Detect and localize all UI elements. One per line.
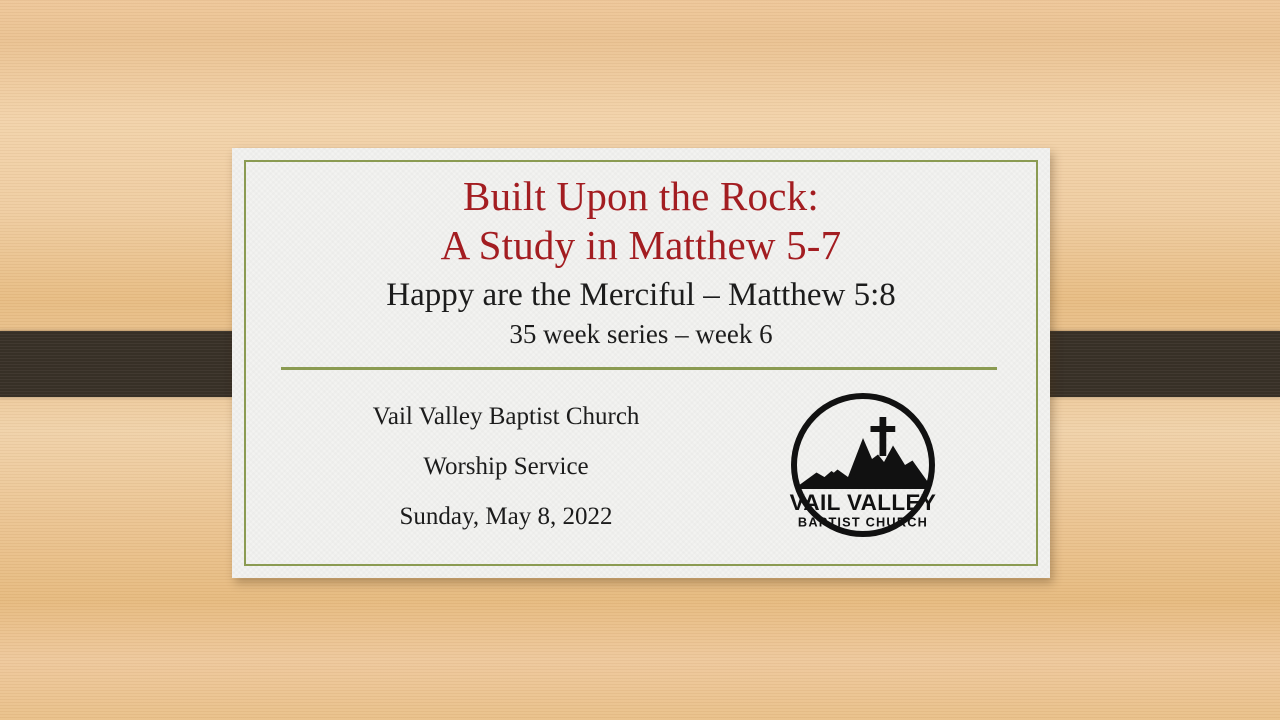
title-line-2: A Study in Matthew 5-7: [272, 221, 1010, 270]
church-logo-wrap: VAIL VALLEY BAPTIST CHURCH: [788, 386, 948, 540]
slide-title: Built Upon the Rock: A Study in Matthew …: [272, 172, 1010, 270]
subtitle-primary: Happy are the Merciful – Matthew 5:8: [272, 274, 1010, 316]
slide-subtitle: Happy are the Merciful – Matthew 5:8 35 …: [272, 274, 1010, 352]
slide-content-card: Built Upon the Rock: A Study in Matthew …: [232, 148, 1050, 578]
slide-stage: Built Upon the Rock: A Study in Matthew …: [0, 0, 1280, 720]
decorative-ribbon-left: [0, 331, 262, 397]
decorative-ribbon-right: [1018, 331, 1280, 397]
horizontal-divider: [281, 367, 997, 370]
church-info-block: Vail Valley Baptist Church Worship Servi…: [272, 386, 740, 542]
vail-valley-baptist-church-logo-icon: VAIL VALLEY BAPTIST CHURCH: [788, 390, 938, 540]
service-date: Sunday, May 8, 2022: [272, 492, 740, 542]
logo-name-top: VAIL VALLEY: [790, 490, 937, 515]
subtitle-secondary: 35 week series – week 6: [272, 316, 1010, 352]
card-body: Built Upon the Rock: A Study in Matthew …: [232, 148, 1050, 578]
service-name: Worship Service: [272, 442, 740, 492]
title-line-1: Built Upon the Rock:: [272, 172, 1010, 221]
lower-content-row: Vail Valley Baptist Church Worship Servi…: [272, 386, 1010, 542]
logo-name-bottom: BAPTIST CHURCH: [798, 515, 928, 530]
church-name: Vail Valley Baptist Church: [272, 392, 740, 442]
